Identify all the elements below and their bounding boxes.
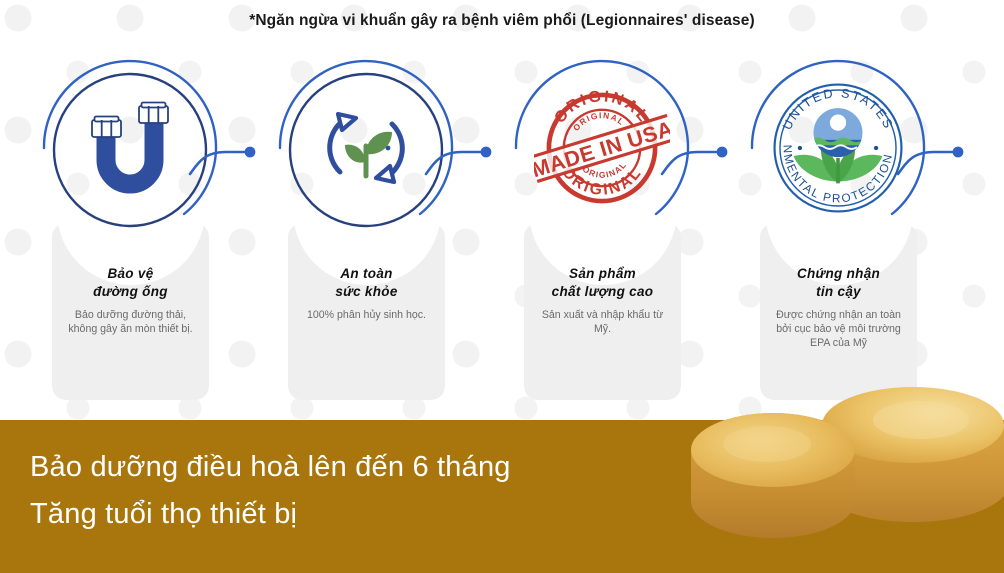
feature-title-3: Sản phẩm chất lượng cao (533, 265, 672, 301)
feature-column-2[interactable]: An toàn sức khỏe 100% phân hủy sinh học. (248, 50, 484, 410)
made-in-usa-stamp-icon: ORIGINAL ORIGINAL ORIGINAL · · ORIGINAL (534, 80, 670, 216)
feature-column-1[interactable]: Bảo vệ đường ống Bảo dưỡng đường thải, k… (12, 50, 248, 410)
two-yellow-tablets-image (663, 378, 1004, 573)
feature-title-2: An toàn sức khỏe (297, 265, 436, 301)
footnote-text: *Ngăn ngừa vi khuẩn gây ra bệnh viêm phổ… (0, 12, 1004, 30)
feature-column-3[interactable]: Sản phẩm chất lượng cao Sản xuất và nhập… (484, 50, 720, 410)
tablet-front (691, 413, 855, 538)
feature-columns: Bảo vệ đường ống Bảo dưỡng đường thải, k… (0, 50, 1004, 410)
feature-desc-1: Bảo dưỡng đường thải, không gây ăn mòn t… (61, 308, 200, 336)
feature-badge-3: ORIGINAL ORIGINAL ORIGINAL · · ORIGINAL (506, 52, 698, 244)
feature-desc-3: Sản xuất và nhập khẩu từ Mỹ. (533, 308, 672, 336)
feature-card-1: Bảo vệ đường ống Bảo dưỡng đường thải, k… (52, 223, 209, 400)
banner-line-1: Bảo dưỡng điều hoà lên đến 6 tháng (30, 444, 690, 491)
feature-badge-4: UNITED STATES ENVIRONMENTAL PROTECTION A… (742, 52, 934, 244)
feature-desc-2: 100% phân hủy sinh học. (297, 308, 436, 322)
u-pipe-icon (62, 80, 198, 216)
banner-line-2: Tăng tuổi thọ thiết bị (30, 491, 690, 538)
biodegradable-recycle-plant-icon (298, 80, 434, 216)
feature-card-3: Sản phẩm chất lượng cao Sản xuất và nhập… (524, 223, 681, 400)
feature-column-4[interactable]: Chứng nhận tin cậy Được chứng nhận an to… (720, 50, 956, 410)
banner-text-block: Bảo dưỡng điều hoà lên đến 6 tháng Tăng … (30, 444, 690, 538)
feature-title-4: Chứng nhận tin cậy (769, 265, 908, 301)
epa-seal-icon: UNITED STATES ENVIRONMENTAL PROTECTION A… (770, 80, 906, 216)
feature-badge-1 (34, 52, 226, 244)
feature-desc-4: Được chứng nhận an toàn bởi cục bảo vệ m… (769, 308, 908, 351)
feature-card-4: Chứng nhận tin cậy Được chứng nhận an to… (760, 223, 917, 400)
infographic-canvas: *Ngăn ngừa vi khuẩn gây ra bệnh viêm phổ… (0, 0, 1004, 573)
feature-title-1: Bảo vệ đường ống (61, 265, 200, 301)
feature-badge-2 (270, 52, 462, 244)
feature-card-2: An toàn sức khỏe 100% phân hủy sinh học. (288, 223, 445, 400)
